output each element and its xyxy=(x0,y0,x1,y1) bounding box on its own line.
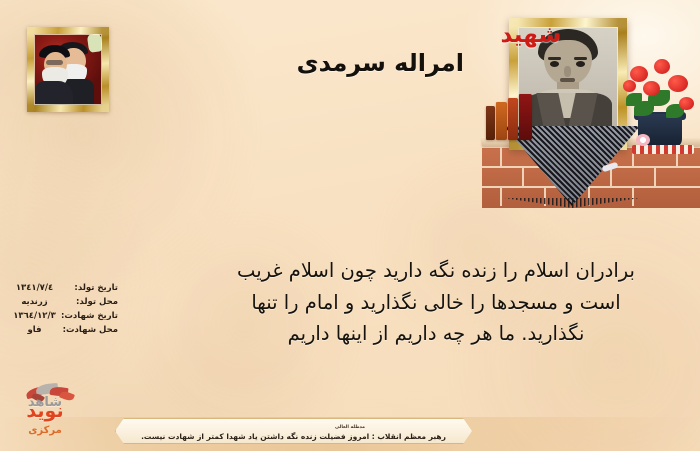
book-item xyxy=(486,106,495,140)
flower-bloom xyxy=(679,97,694,110)
portrait-lapel-left xyxy=(536,93,565,127)
portrait-nose xyxy=(564,66,571,77)
info-label: تاریخ تولد: xyxy=(69,284,118,293)
cleric-right-robe xyxy=(54,79,93,105)
site-logo[interactable]: شاهد نوید مرکزی xyxy=(8,381,82,443)
portrait-eye-left xyxy=(550,61,559,67)
honorific-text: مدظله العالی xyxy=(0,425,700,430)
bottom-banner-area: مدظله العالی رهبر معظم انقلاب : امروز فض… xyxy=(0,395,700,451)
info-row-martyrdom-place: محل شهادت: فاو xyxy=(6,326,118,335)
flower-bloom xyxy=(643,81,660,96)
cleric-left-beard xyxy=(42,67,68,88)
info-value: فاو xyxy=(6,326,63,335)
portrait-eye-right xyxy=(576,61,585,67)
flower-bloom xyxy=(654,59,670,74)
logo-word-main: نوید xyxy=(26,400,63,422)
book-item xyxy=(496,102,507,140)
eyeglasses-icon xyxy=(46,60,64,65)
decorative-ribbon xyxy=(632,145,694,154)
flower-bloom xyxy=(668,75,688,92)
quote-line: برادران اسلام را زنده نگه دارید چون اسلا… xyxy=(190,255,682,287)
cleric-left-turban xyxy=(39,45,70,58)
cleric-left-robe xyxy=(35,81,73,105)
portrait-shirt xyxy=(558,93,578,118)
martyr-info-block: تاریخ تولد: ١٣٤١/٧/٤ محل تولد: زرندیه تا… xyxy=(6,284,118,340)
cleric-right-turban xyxy=(57,42,88,55)
logo-wordmark: شاهد نوید xyxy=(8,397,82,420)
page-title: امراله سرمدی xyxy=(297,49,464,77)
cleric-right-beard xyxy=(60,64,87,85)
portrait-collar xyxy=(540,89,596,103)
info-value: زرندیه xyxy=(6,298,63,307)
portrait-mouth xyxy=(560,78,575,81)
portrait-brow-right xyxy=(574,57,587,60)
portrait-lapel-right xyxy=(568,93,597,127)
flower-bloom xyxy=(630,66,648,82)
leaf xyxy=(626,93,642,106)
book-item xyxy=(508,98,518,140)
leaders-artwork xyxy=(34,34,102,105)
info-row-birth-place: محل تولد: زرندیه xyxy=(6,298,118,307)
logo-subtitle: مرکزی xyxy=(8,425,82,436)
leaders-gold-frame xyxy=(27,27,109,112)
martyr-quote: برادران اسلام را زنده نگه دارید چون اسلا… xyxy=(190,255,682,350)
book-item xyxy=(519,94,532,140)
info-value: ١٣٦٤/١٢/٣ xyxy=(6,312,63,321)
info-row-martyrdom-date: تاریخ شهادت: ١٣٦٤/١٢/٣ xyxy=(6,312,118,321)
info-label: تاریخ شهادت: xyxy=(69,312,118,321)
quote-line: نگذارید. ما هر چه داریم از اینها داریم xyxy=(190,318,682,350)
memorial-poster: شهید امراله سرمدی تاریخ تولد: ١٣٤١/٧/٤ م… xyxy=(0,0,700,451)
cleric-right-head xyxy=(61,48,85,72)
info-label: محل تولد: xyxy=(69,298,118,307)
portrait-neck xyxy=(557,82,579,93)
cleric-left-head xyxy=(44,52,67,75)
leader-quote-text: رهبر معظم انقلاب : امروز فضیلت زنده نگه … xyxy=(119,432,468,441)
leaders-portrait xyxy=(27,27,109,112)
small-white-flower xyxy=(636,134,650,146)
info-label: محل شهادت: xyxy=(69,326,118,335)
info-row-birth-date: تاریخ تولد: ١٣٤١/٧/٤ xyxy=(6,284,118,293)
shahid-label: شهید xyxy=(501,22,561,48)
quote-line: است و مسجدها را خالی نگذارید و امام را ت… xyxy=(190,287,682,319)
flower-bloom xyxy=(623,80,636,92)
info-value: ١٣٤١/٧/٤ xyxy=(6,284,63,293)
portrait-brow-left xyxy=(548,57,561,60)
cleric-left-sash xyxy=(87,34,102,53)
